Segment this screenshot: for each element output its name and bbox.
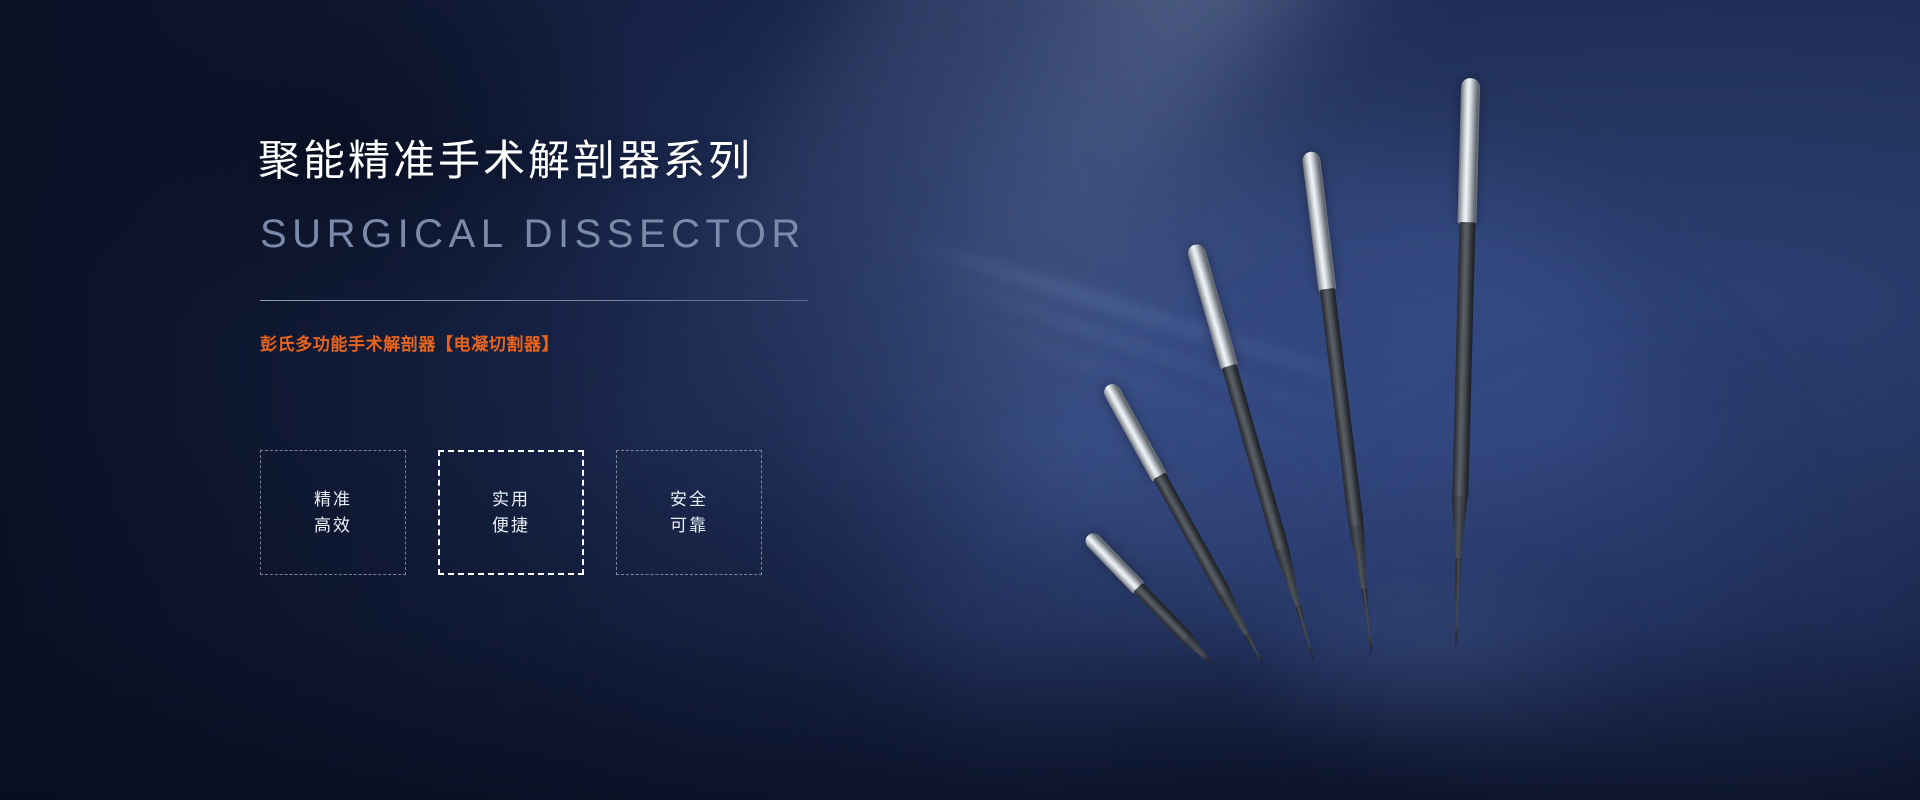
feature-box-1-line2: 高效: [314, 517, 352, 534]
feature-box-1-line1: 精准: [314, 491, 352, 508]
feature-box-2[interactable]: 实用 便捷: [438, 450, 584, 575]
feature-box-3-line1: 安全: [670, 491, 708, 508]
banner-subtitle-cn: 彭氏多功能手术解剖器【电凝切割器】: [260, 334, 559, 356]
feature-box-1[interactable]: 精准 高效: [260, 450, 406, 575]
feature-box-2-line2: 便捷: [492, 517, 530, 534]
banner-title-cn: 聚能精准手术解剖器系列: [258, 137, 753, 184]
feature-box-3-line2: 可靠: [670, 517, 708, 534]
hero-banner: 聚能精准手术解剖器系列 SURGICAL DISSECTOR 彭氏多功能手术解剖…: [0, 0, 1920, 800]
feature-box-3[interactable]: 安全 可靠: [616, 450, 762, 575]
title-divider: [260, 300, 808, 301]
banner-title-en: SURGICAL DISSECTOR: [260, 212, 806, 256]
feature-box-2-line1: 实用: [492, 491, 530, 508]
banner-content: 聚能精准手术解剖器系列 SURGICAL DISSECTOR 彭氏多功能手术解剖…: [258, 0, 978, 800]
feature-box-group: 精准 高效 实用 便捷 安全 可靠: [260, 450, 762, 575]
